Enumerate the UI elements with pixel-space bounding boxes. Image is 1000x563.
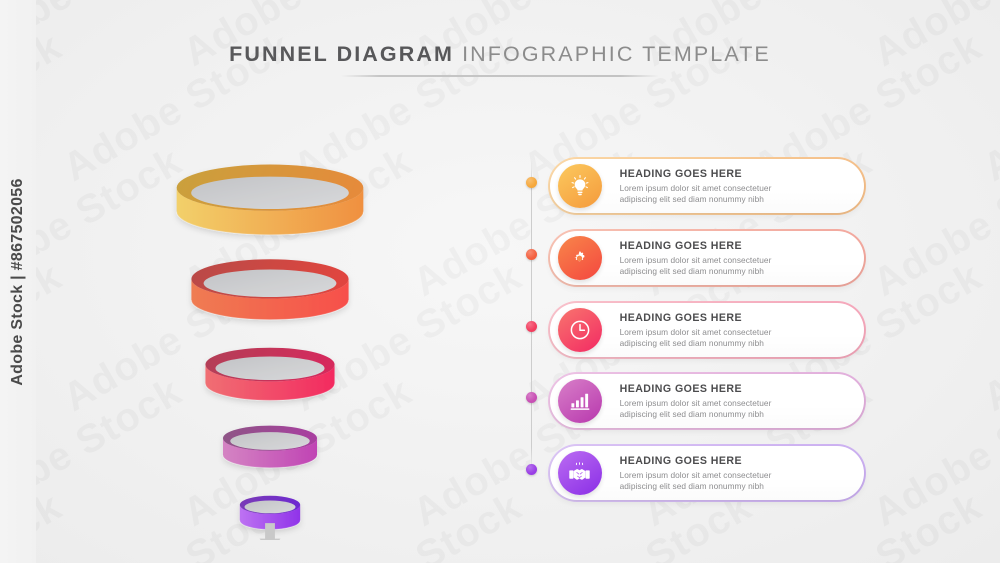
info-card-3-body-line2: adipiscing elit sed diam nonummy nibh: [620, 338, 853, 349]
handshake-icon[interactable]: [558, 451, 602, 495]
timeline-connector-line: [531, 160, 532, 472]
info-card-1[interactable]: HEADING GOES HERELorem ipsum dolor sit a…: [548, 157, 866, 215]
watermark-tile: Adobe Stock: [976, 254, 1000, 421]
funnel-stage-1-inner-shade: [191, 177, 349, 209]
lightbulb-icon[interactable]: [558, 164, 602, 208]
info-card-4-body-line1: Lorem ipsum dolor sit amet consectetuer: [620, 398, 853, 409]
info-card-1-text: HEADING GOES HERELorem ipsum dolor sit a…: [620, 168, 853, 205]
info-card-1-body-line1: Lorem ipsum dolor sit amet consectetuer: [620, 183, 853, 194]
timeline-dot-3[interactable]: [526, 321, 537, 332]
funnel-svg: [120, 140, 420, 540]
funnel-stage-4-inner-shade: [230, 432, 309, 450]
page-title: FUNNEL DIAGRAM INFOGRAPHIC TEMPLATE: [0, 42, 1000, 67]
info-card-1-surface: HEADING GOES HERELorem ipsum dolor sit a…: [550, 159, 865, 214]
gear-icon[interactable]: [558, 236, 602, 280]
info-card-5-heading: HEADING GOES HERE: [620, 455, 853, 468]
info-card-4[interactable]: HEADING GOES HERELorem ipsum dolor sit a…: [548, 372, 866, 430]
info-card-2-surface: HEADING GOES HERELorem ipsum dolor sit a…: [550, 231, 865, 286]
funnel-stage-3-inner-shade: [215, 356, 324, 380]
info-card-3-body-line1: Lorem ipsum dolor sit amet consectetuer: [620, 327, 853, 338]
info-card-5-body-line1: Lorem ipsum dolor sit amet consectetuer: [620, 470, 853, 481]
info-card-3-heading: HEADING GOES HERE: [620, 312, 853, 325]
timeline-dot-4[interactable]: [526, 392, 537, 403]
timeline-dot-2[interactable]: [526, 249, 537, 260]
info-card-2-body: Lorem ipsum dolor sit amet consectetuera…: [620, 255, 853, 277]
stock-watermark-strip: Adobe Stock | #867502056: [0, 0, 36, 563]
info-card-4-body-line2: adipiscing elit sed diam nonummy nibh: [620, 409, 853, 420]
watermark-tile: Adobe Stock: [866, 139, 1000, 306]
funnel-stage-3: [205, 348, 334, 401]
info-card-4-body: Lorem ipsum dolor sit amet consectetuera…: [620, 398, 853, 420]
watermark-tile: Adobe Stock: [866, 369, 1000, 536]
info-card-2-body-line2: adipiscing elit sed diam nonummy nibh: [620, 266, 853, 277]
info-card-5-text: HEADING GOES HERELorem ipsum dolor sit a…: [620, 455, 853, 492]
funnel-stage-2-inner-shade: [204, 270, 337, 298]
info-card-4-text: HEADING GOES HERELorem ipsum dolor sit a…: [620, 383, 853, 420]
info-card-3-text: HEADING GOES HERELorem ipsum dolor sit a…: [620, 312, 853, 349]
funnel-stage-5-inner-shade: [245, 501, 296, 514]
info-card-2-body-line1: Lorem ipsum dolor sit amet consectetuer: [620, 255, 853, 266]
info-card-5-body-line2: adipiscing elit sed diam nonummy nibh: [620, 481, 853, 492]
info-card-5-surface: HEADING GOES HERELorem ipsum dolor sit a…: [550, 446, 865, 501]
info-card-1-body: Lorem ipsum dolor sit amet consectetuera…: [620, 183, 853, 205]
stock-watermark-label: Adobe Stock | #867502056: [9, 178, 27, 385]
info-card-2-heading: HEADING GOES HERE: [620, 240, 853, 253]
title-light: INFOGRAPHIC TEMPLATE: [462, 42, 771, 66]
infographic-canvas: Adobe StockAdobe StockAdobe StockAdobe S…: [0, 0, 1000, 563]
funnel-stage-4: [223, 426, 317, 468]
funnel-stage-2: [191, 259, 348, 319]
info-card-2[interactable]: HEADING GOES HERELorem ipsum dolor sit a…: [548, 229, 866, 287]
info-card-5[interactable]: HEADING GOES HERELorem ipsum dolor sit a…: [548, 444, 866, 502]
watermark-tile: Adobe Stock: [976, 484, 1000, 563]
info-card-4-heading: HEADING GOES HERE: [620, 383, 853, 396]
timeline-dot-1[interactable]: [526, 177, 537, 188]
info-card-3[interactable]: HEADING GOES HERELorem ipsum dolor sit a…: [548, 301, 866, 359]
info-card-5-body: Lorem ipsum dolor sit amet consectetuera…: [620, 470, 853, 492]
info-card-2-text: HEADING GOES HERELorem ipsum dolor sit a…: [620, 240, 853, 277]
info-card-1-body-line2: adipiscing elit sed diam nonummy nibh: [620, 194, 853, 205]
timeline-dot-5[interactable]: [526, 464, 537, 475]
bar-chart-icon[interactable]: [558, 379, 602, 423]
info-card-1-heading: HEADING GOES HERE: [620, 168, 853, 181]
title-strong: FUNNEL DIAGRAM: [229, 42, 454, 66]
funnel-diagram: [120, 140, 420, 540]
info-card-4-surface: HEADING GOES HERELorem ipsum dolor sit a…: [550, 374, 865, 429]
clock-icon[interactable]: [558, 308, 602, 352]
funnel-stage-1: [177, 165, 364, 235]
info-card-3-body: Lorem ipsum dolor sit amet consectetuera…: [620, 327, 853, 349]
title-divider: [341, 75, 659, 77]
info-card-3-surface: HEADING GOES HERELorem ipsum dolor sit a…: [550, 303, 865, 358]
